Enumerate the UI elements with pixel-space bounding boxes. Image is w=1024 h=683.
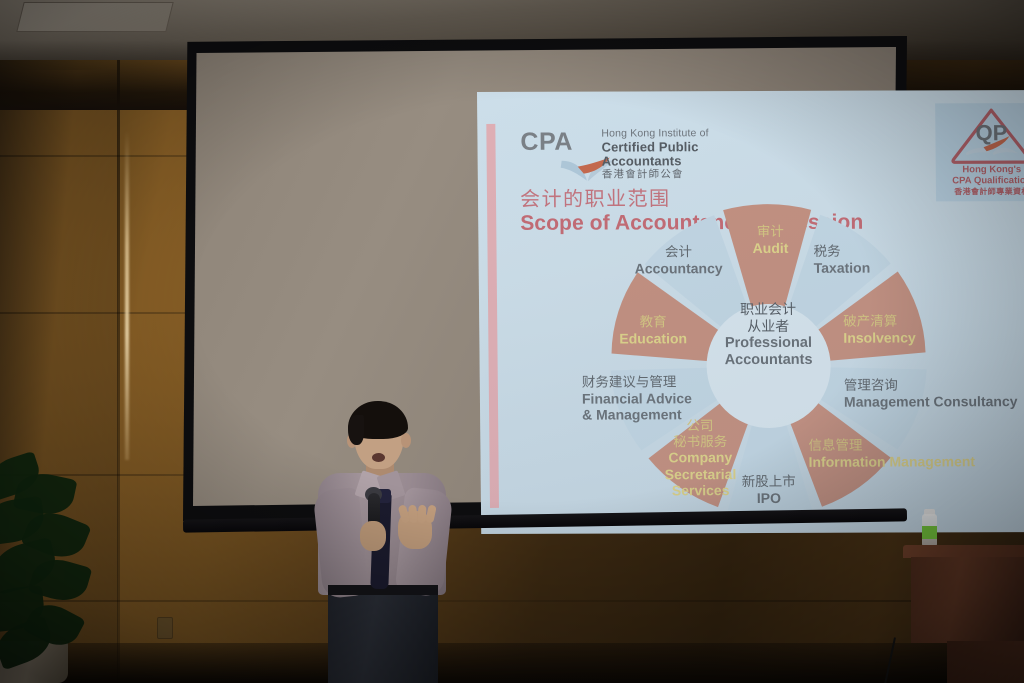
segment-cosec-cn-b: 秘书服务 [664,434,736,450]
presenter-person [300,393,490,683]
podium-base [947,641,1024,683]
segment-label-ipo: 新股上市 IPO [738,474,800,506]
cpa-logo-letters: CPA [520,128,573,157]
cpa-logo-text: Hong Kong Institute of Certified Public … [601,128,780,181]
qp-badge-line2: CPA Qualification [936,175,1024,187]
segment-mgmt-consultancy-en: Management Consultancy [844,393,1018,410]
cpa-logo: CPA Hong Kong Institute of Certified Pub… [519,127,780,186]
segment-ipo-en: IPO [738,490,800,506]
floor [0,643,1024,683]
projection-screen: CPA Hong Kong Institute of Certified Pub… [183,36,907,521]
segment-label-taxation: 税务 Taxation [813,244,870,276]
hub-chinese-line1: 职业会计 [699,301,837,318]
presenter-mouth [372,453,385,462]
cpa-logo-line3: 香港會計師公會 [602,169,780,181]
segment-audit-en: Audit [740,240,800,256]
segment-label-audit: 审计 Audit [740,224,800,256]
presenter-hair-side [348,415,364,445]
qp-badge-label: Hong Kong's CPA Qualification 香港會計師專業資格 [936,164,1024,196]
segment-label-insolvency: 破产清算 Insolvency [843,313,916,345]
presentation-slide: CPA Hong Kong Institute of Certified Pub… [477,90,1024,534]
segment-mgmt-consultancy-cn: 管理咨询 [844,377,1018,393]
qp-qualification-badge: QP Hong Kong's CPA Qualification 香港會計師專業… [935,103,1024,201]
segment-education-cn: 教育 [619,314,687,330]
ceiling-panel [16,2,173,32]
segment-label-financial-advice: 财务建议与管理 Financial Advice & Management [582,374,692,423]
segment-education-en: Education [619,330,687,346]
segment-accountancy-cn: 会计 [634,244,722,260]
accountancy-scope-wheel: 职业会计 从业者 Professional Accountants 审计 Aud… [570,205,1003,534]
segment-insolvency-cn: 破产清算 [843,313,916,329]
segment-cosec-en-b: Secretarial [665,466,737,482]
segment-label-accountancy: 会计 Accountancy [634,244,722,276]
segment-label-information-management: 信息管理 Information Management [808,437,975,469]
segment-finadvice-cn: 财务建议与管理 [582,374,692,390]
presenter-trousers [328,589,438,683]
segment-label-management-consultancy: 管理咨询 Management Consultancy [844,377,1018,409]
segment-taxation-cn: 税务 [813,244,870,260]
hub-chinese-line2: 从业者 [699,318,837,335]
segment-cosec-en-c: Services [665,482,737,498]
segment-ipo-cn: 新股上市 [738,474,800,490]
cpa-logo-line2: Certified Public Accountants [601,140,779,170]
presenter-hand-holding-mic [360,521,386,551]
segment-info-mgmt-cn: 信息管理 [808,437,975,453]
wheel-hub-label: 职业会计 从业者 Professional Accountants [699,301,838,370]
wall-outlet [157,617,173,639]
segment-label-education: 教育 Education [619,314,687,346]
podium-front-panel [911,557,1024,643]
segment-finadvice-en-b: & Management [582,406,692,423]
segment-info-mgmt-en: Information Management [808,453,975,470]
segment-cosec-en-a: Company [664,449,736,465]
wall-vertical-seam [117,60,120,683]
wall-panel-seam [0,600,1024,602]
qp-triangle-icon: QP [949,107,1024,165]
presenter-ear-right [401,433,411,448]
segment-label-company-secretarial-services: 公司 秘书服务 Company Secretarial Services [664,418,736,498]
cpa-logo-mark-icon: CPA [519,128,594,184]
segment-audit-cn: 审计 [740,224,800,240]
segment-accountancy-en: Accountancy [635,260,723,277]
qp-badge-line3: 香港會計師專業資格 [936,187,1024,197]
wall-light-strip [125,130,129,460]
potted-plant [0,448,114,683]
hub-english-line2: Accountants [700,352,838,370]
qp-badge-line1: Hong Kong's [936,164,1024,176]
conference-room-scene: CPA Hong Kong Institute of Certified Pub… [0,0,1024,683]
segment-taxation-en: Taxation [814,259,871,275]
segment-insolvency-en: Insolvency [843,329,916,345]
water-bottle-label [922,526,937,539]
lectern-podium [903,545,1024,683]
hub-english-line1: Professional [699,334,837,352]
segment-finadvice-en-a: Financial Advice [582,390,692,407]
